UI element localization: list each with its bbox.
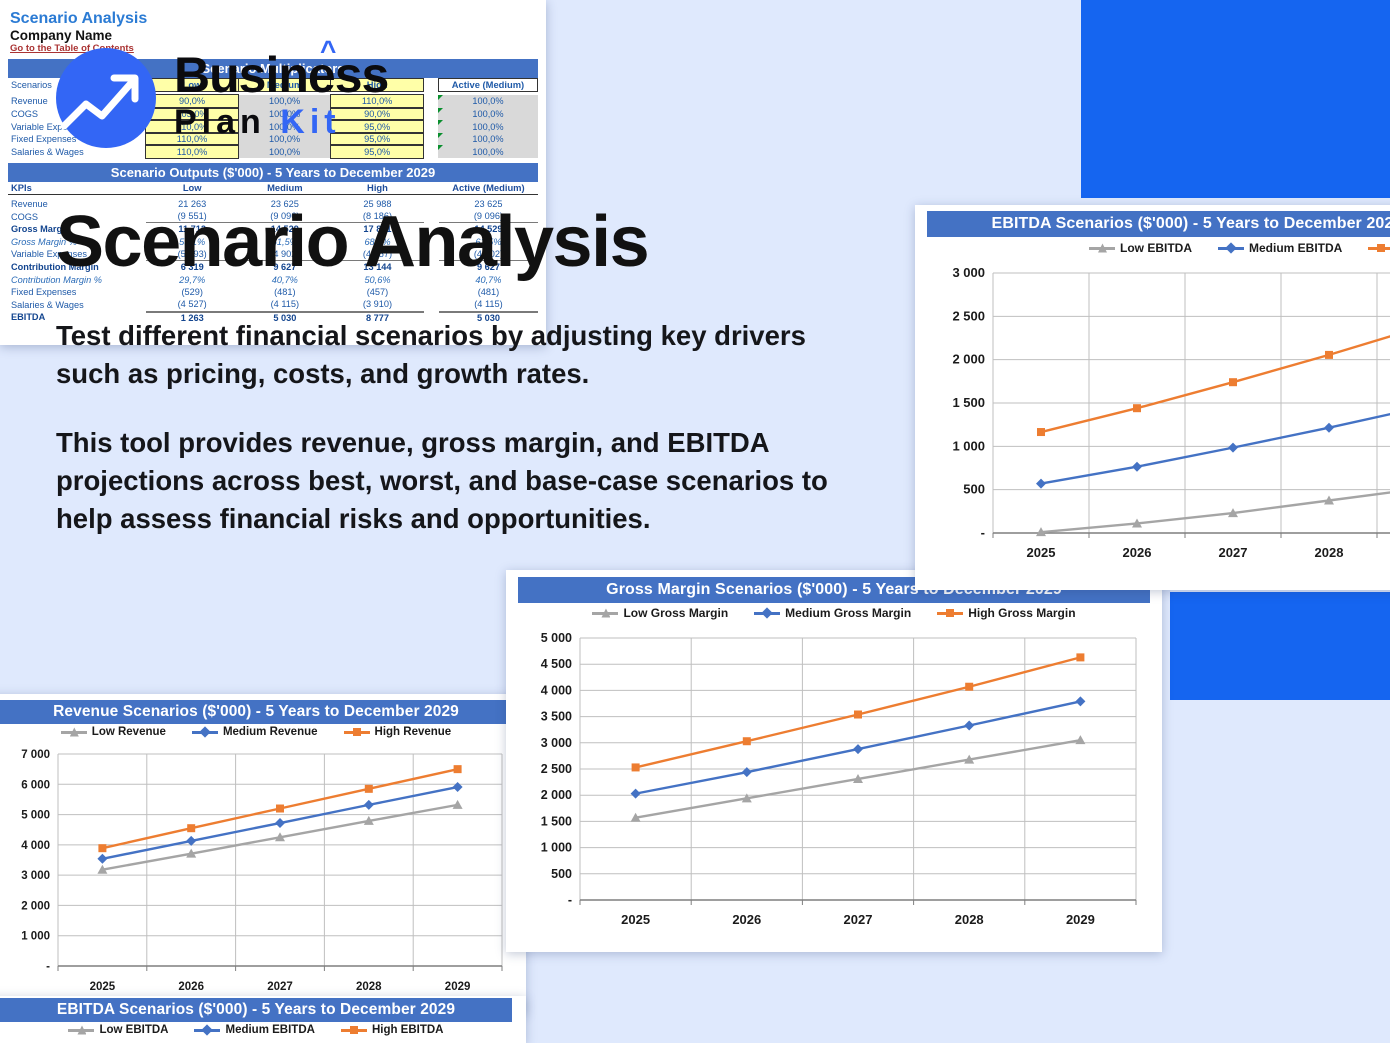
svg-text:4 500: 4 500 xyxy=(541,657,572,671)
svg-text:4 000: 4 000 xyxy=(21,840,50,852)
revenue-plot-area: -1 0002 0003 0004 0005 0006 0007 0002025… xyxy=(0,746,512,1008)
svg-text:2027: 2027 xyxy=(844,912,873,927)
svg-text:-: - xyxy=(46,961,50,973)
svg-text:3 000: 3 000 xyxy=(21,870,50,882)
legend-item-medium-gross-margin: Medium Gross Margin xyxy=(754,606,911,620)
column-header-medium: Medium xyxy=(239,182,332,195)
svg-text:2028: 2028 xyxy=(356,981,382,993)
revenue-chart-legend: Low Revenue Medium Revenue High Revenue xyxy=(0,726,512,738)
svg-text:1 500: 1 500 xyxy=(541,814,572,828)
svg-text:2029: 2029 xyxy=(1066,912,1095,927)
page-title: Scenario Analysis xyxy=(56,205,856,281)
ebitda-chart-panel-bottom: EBITDA Scenarios ($'000) - 5 Years to De… xyxy=(0,996,526,1043)
svg-text:1 000: 1 000 xyxy=(541,841,572,855)
logo-text-plan-kit: Plan Kit xyxy=(174,103,388,142)
sheet-company-name: Company Name xyxy=(10,28,546,43)
column-header-active: Active (Medium) xyxy=(439,182,538,195)
svg-text:1 500: 1 500 xyxy=(952,395,985,410)
cell-active[interactable]: 100,0% xyxy=(438,120,537,133)
svg-text:2028: 2028 xyxy=(955,912,984,927)
svg-text:500: 500 xyxy=(551,867,572,881)
svg-text:2025: 2025 xyxy=(621,912,650,927)
legend-item-medium-ebitda: Medium EBITDA xyxy=(1218,241,1342,255)
logo-word-business: Business xyxy=(174,47,388,103)
hero-paragraph-2: This tool provides revenue, gross margin… xyxy=(56,424,846,538)
svg-text:5 000: 5 000 xyxy=(541,631,572,645)
svg-text:-: - xyxy=(568,893,572,907)
ebitda-chart-panel: EBITDA Scenarios ($'000) - 5 Years to De… xyxy=(915,205,1390,590)
cell-active[interactable]: 100,0% xyxy=(438,145,537,158)
svg-text:500: 500 xyxy=(963,482,985,497)
svg-text:2027: 2027 xyxy=(1219,545,1248,560)
outputs-header-row: KPIsLowMediumHighActive (Medium) xyxy=(8,182,538,195)
revenue-chart-title: Revenue Scenarios ($'000) - 5 Years to D… xyxy=(0,700,512,724)
outputs-band: Scenario Outputs ($'000) - 5 Years to De… xyxy=(8,163,538,182)
svg-text:7 000: 7 000 xyxy=(21,749,50,761)
legend-item-low-gross-margin: Low Gross Margin xyxy=(592,606,728,620)
column-header-low: Low xyxy=(146,182,239,195)
legend-item-high-ebitda: High EBITDA xyxy=(341,1024,444,1036)
legend-label: Low Revenue xyxy=(92,726,166,738)
svg-text:2025: 2025 xyxy=(90,981,116,993)
ebitda-plot-area: -5001 0001 5002 0002 5003 00020252026202… xyxy=(927,263,1390,581)
legend-label: Low EBITDA xyxy=(99,1024,168,1036)
ebitda-bottom-chart-legend: Low EBITDA Medium EBITDA High EBITDA xyxy=(0,1024,512,1036)
ebitda-chart-title: EBITDA Scenarios ($'000) - 5 Years to De… xyxy=(927,211,1390,237)
legend-item-low-ebitda: Low EBITDA xyxy=(68,1024,168,1036)
gross-margin-chart-legend: Low Gross Margin Medium Gross Margin Hig… xyxy=(518,606,1150,620)
svg-text:3 000: 3 000 xyxy=(952,265,985,280)
legend-item-low-ebitda: Low EBITDA xyxy=(1089,241,1192,255)
svg-text:2026: 2026 xyxy=(1123,545,1152,560)
svg-text:2 000: 2 000 xyxy=(21,900,50,912)
gross-margin-chart-panel: Gross Margin Scenarios ($'000) - 5 Years… xyxy=(506,570,1162,952)
legend-item-high-ebitda: High EBITDA xyxy=(1368,241,1390,255)
svg-text:2 500: 2 500 xyxy=(541,762,572,776)
legend-label: High Gross Margin xyxy=(968,606,1075,620)
legend-label: Medium EBITDA xyxy=(225,1024,314,1036)
legend-item-medium-revenue: Medium Revenue xyxy=(192,726,318,738)
column-header-active[interactable]: Active (Medium) xyxy=(438,79,537,92)
svg-text:2026: 2026 xyxy=(178,981,204,993)
column-header-high: High xyxy=(331,182,424,195)
svg-text:2 500: 2 500 xyxy=(952,308,985,323)
ebitda-bottom-chart-title: EBITDA Scenarios ($'000) - 5 Years to De… xyxy=(0,998,512,1022)
legend-label: Low Gross Margin xyxy=(623,606,728,620)
svg-text:5 000: 5 000 xyxy=(21,810,50,822)
hero-paragraph-1: Test different financial scenarios by ad… xyxy=(56,317,846,393)
legend-label: Medium EBITDA xyxy=(1249,241,1342,255)
cell-active[interactable]: 100,0% xyxy=(438,95,537,108)
legend-item-low-revenue: Low Revenue xyxy=(61,726,166,738)
cell-active[interactable]: 100,0% xyxy=(438,108,537,121)
legend-item-medium-ebitda: Medium EBITDA xyxy=(194,1024,314,1036)
logo-word-plan: Plan xyxy=(174,103,266,141)
outputs-row-header: KPIs xyxy=(8,182,146,195)
legend-label: Medium Gross Margin xyxy=(785,606,911,620)
legend-item-high-gross-margin: High Gross Margin xyxy=(937,606,1075,620)
svg-text:4 000: 4 000 xyxy=(541,683,572,697)
sheet-title: Scenario Analysis xyxy=(10,10,546,28)
svg-text:2029: 2029 xyxy=(445,981,471,993)
svg-text:6 000: 6 000 xyxy=(21,779,50,791)
revenue-chart-panel: Revenue Scenarios ($'000) - 5 Years to D… xyxy=(0,694,526,1014)
gross-margin-plot-area: -5001 0001 5002 0002 5003 0003 5004 0004… xyxy=(518,628,1150,946)
svg-text:3 000: 3 000 xyxy=(541,736,572,750)
brand-logo: Business ^ Plan Kit xyxy=(56,48,436,154)
svg-text:2 000: 2 000 xyxy=(541,788,572,802)
svg-text:1 000: 1 000 xyxy=(21,931,50,943)
legend-label: High Revenue xyxy=(375,726,452,738)
decorative-blue-block-top xyxy=(1081,0,1390,198)
legend-label: Low EBITDA xyxy=(1120,241,1192,255)
logo-growth-arrow-icon xyxy=(56,48,156,148)
svg-text:2 000: 2 000 xyxy=(952,352,985,367)
svg-text:-: - xyxy=(981,525,985,540)
decorative-blue-block-middle xyxy=(1170,592,1390,700)
svg-text:2025: 2025 xyxy=(1027,545,1056,560)
legend-label: High EBITDA xyxy=(372,1024,444,1036)
svg-text:2026: 2026 xyxy=(732,912,761,927)
ebitda-chart-legend: Low EBITDA Medium EBITDA High EBITDA xyxy=(927,241,1390,255)
hero-section: Scenario Analysis Test different financi… xyxy=(56,205,856,538)
legend-label: Medium Revenue xyxy=(223,726,318,738)
logo-text-business: Business ^ xyxy=(174,50,388,101)
svg-text:1 000: 1 000 xyxy=(952,438,985,453)
cell-active[interactable]: 100,0% xyxy=(438,133,537,146)
legend-item-high-revenue: High Revenue xyxy=(344,726,452,738)
svg-text:2028: 2028 xyxy=(1315,545,1344,560)
logo-word-kit: Kit xyxy=(280,103,340,141)
svg-text:3 500: 3 500 xyxy=(541,710,572,724)
logo-caret-icon: ^ xyxy=(320,37,335,65)
svg-text:2027: 2027 xyxy=(267,981,293,993)
